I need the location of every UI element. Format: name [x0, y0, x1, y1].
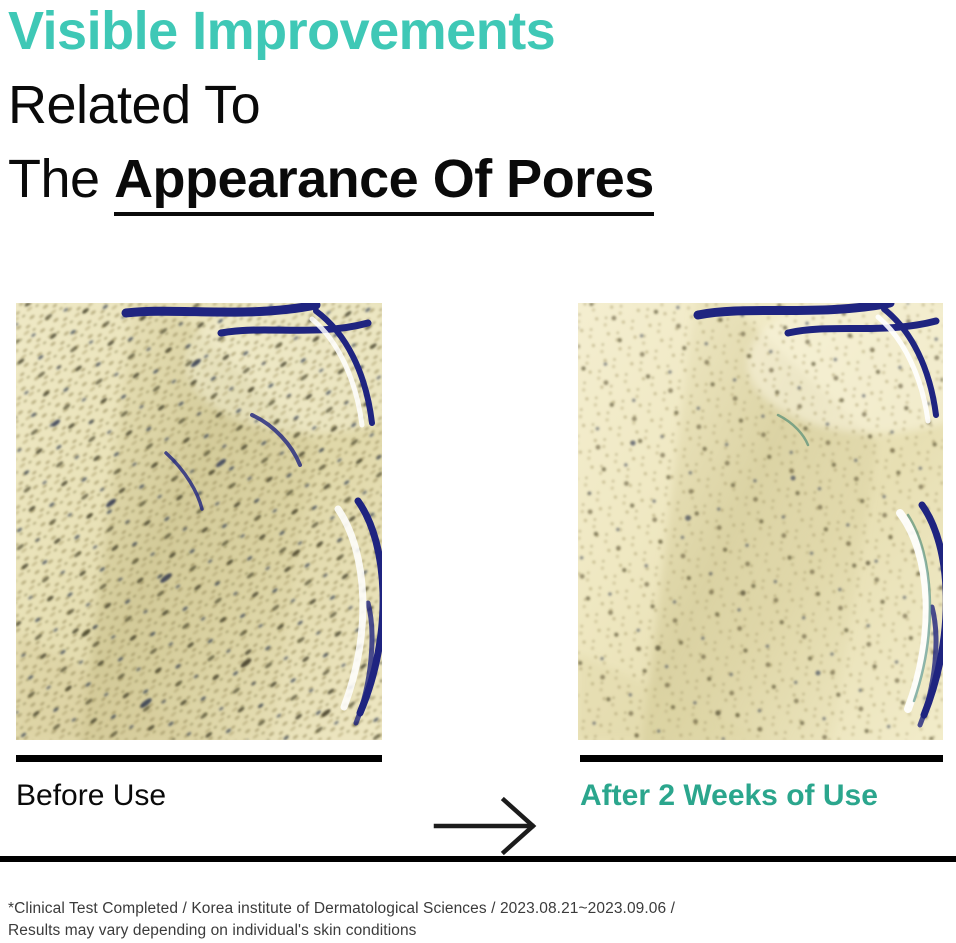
after-caption-label: After 2 Weeks of Use: [580, 778, 878, 814]
headline-line-3: The Appearance Of Pores: [8, 152, 948, 206]
before-caption-label: Before Use: [16, 778, 166, 814]
clinical-test-footnote: *Clinical Test Completed / Korea institu…: [8, 898, 938, 943]
page-title: Visible Improvements Related To The Appe…: [8, 0, 948, 206]
headline-emphasis-underlined: Appearance Of Pores: [114, 149, 654, 216]
headline-line-3-prefix: The: [8, 149, 114, 209]
after-image-panel: [578, 303, 943, 740]
before-caption-rule: [16, 755, 382, 762]
before-image-panel: [16, 303, 382, 740]
arrow-right-icon: [432, 795, 542, 857]
skin-macro-after-image: [578, 303, 943, 740]
skin-macro-before-image: [16, 303, 382, 740]
before-after-comparison: [0, 303, 956, 743]
headline-line-1: Visible Improvements: [8, 4, 948, 58]
footnote-line-1: *Clinical Test Completed / Korea institu…: [8, 898, 938, 920]
footnote-line-2: Results may vary depending on individual…: [8, 920, 938, 942]
footer-divider: [0, 856, 956, 862]
headline-line-2: Related To: [8, 78, 948, 132]
after-caption-rule: [580, 755, 943, 762]
